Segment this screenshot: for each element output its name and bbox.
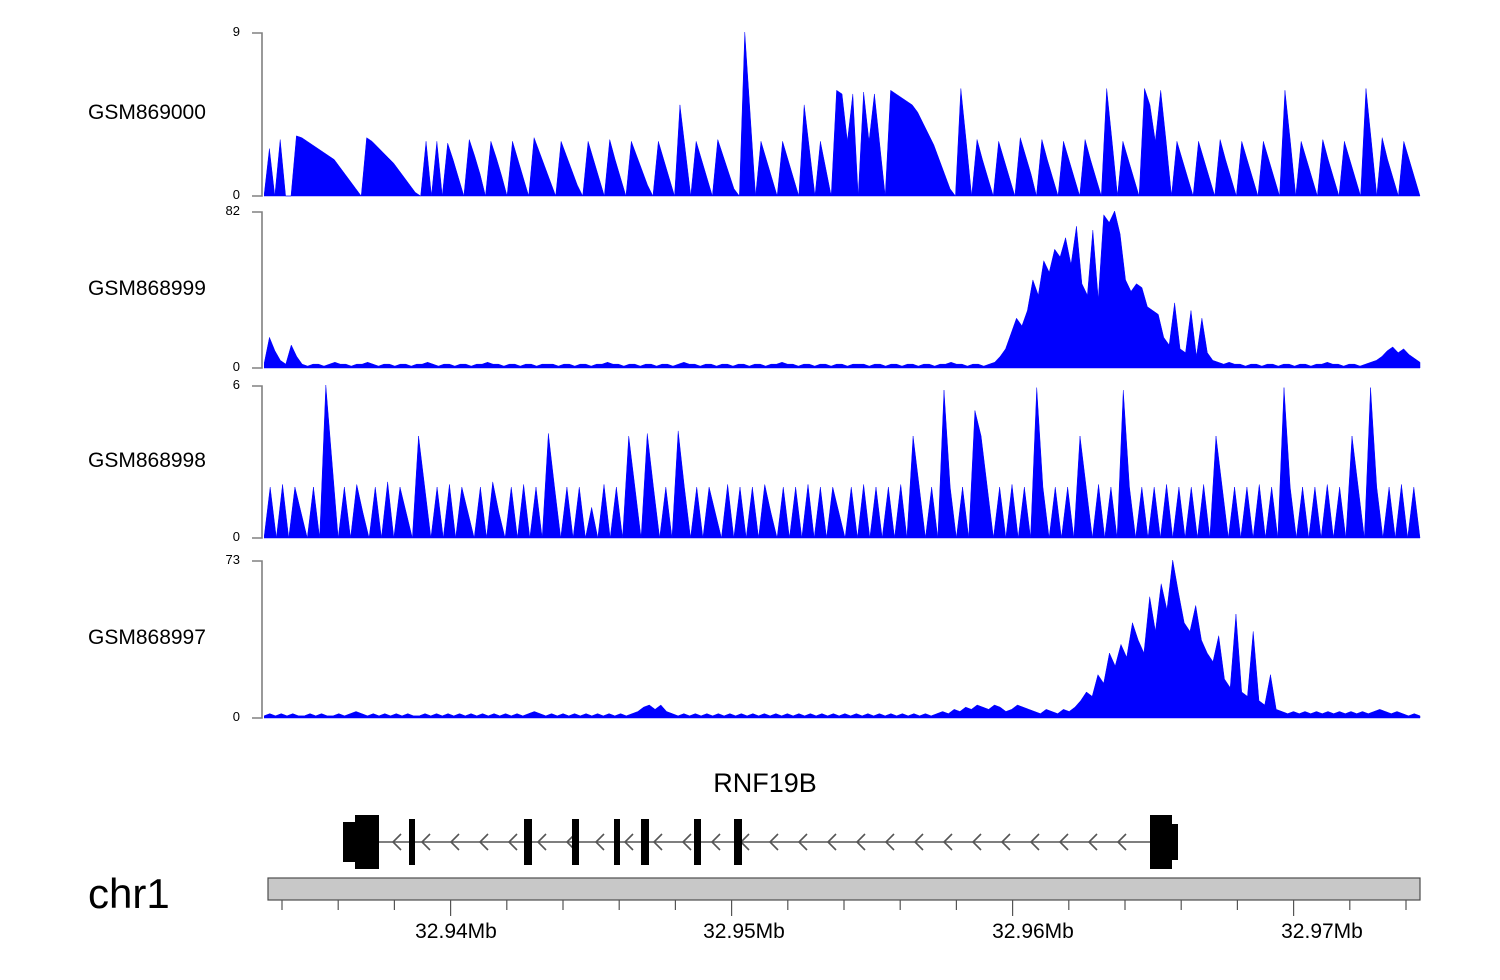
signal-track-3[interactable]: GSM86899860 [0,385,1500,538]
track-label-2: GSM868999 [88,277,206,301]
track-label-3: GSM868998 [88,449,206,473]
signal-area-2 [264,211,1422,369]
axis-max-label-3: 6 [200,377,240,392]
axis-max-label-4: 73 [200,552,240,567]
signal-area-1 [264,32,1422,197]
track-label-4: GSM868997 [88,626,206,650]
gene-model [0,802,1500,882]
signal-track-2[interactable]: GSM868999820 [0,211,1500,368]
axis-min-label-4: 0 [200,709,240,724]
genome-browser: GSM86900090 GSM868999820 GSM86899860 GSM… [0,0,1500,980]
axis-min-label-1: 0 [200,187,240,202]
track-label-1: GSM869000 [88,101,206,125]
ruler-tick-label: 32.95Mb [703,920,785,944]
axis-max-label-2: 82 [200,203,240,218]
signal-area-4 [264,560,1422,719]
ruler-tick-label: 32.96Mb [992,920,1074,944]
signal-track-1[interactable]: GSM86900090 [0,32,1500,196]
coordinate-ruler[interactable]: 32.94Mb32.95Mb32.96Mb32.97Mb [0,876,1500,976]
ruler-tick-label: 32.94Mb [415,920,497,944]
axis-max-label-1: 9 [200,24,240,39]
gene-name-label[interactable]: RNF19B [713,768,817,799]
gene-annotation-track[interactable]: RNF19B [0,760,1500,870]
signal-track-4[interactable]: GSM868997730 [0,560,1500,718]
ruler-bar [0,876,1500,918]
signal-area-3 [264,385,1422,539]
ruler-tick-label: 32.97Mb [1281,920,1363,944]
axis-min-label-2: 0 [200,359,240,374]
axis-min-label-3: 0 [200,529,240,544]
